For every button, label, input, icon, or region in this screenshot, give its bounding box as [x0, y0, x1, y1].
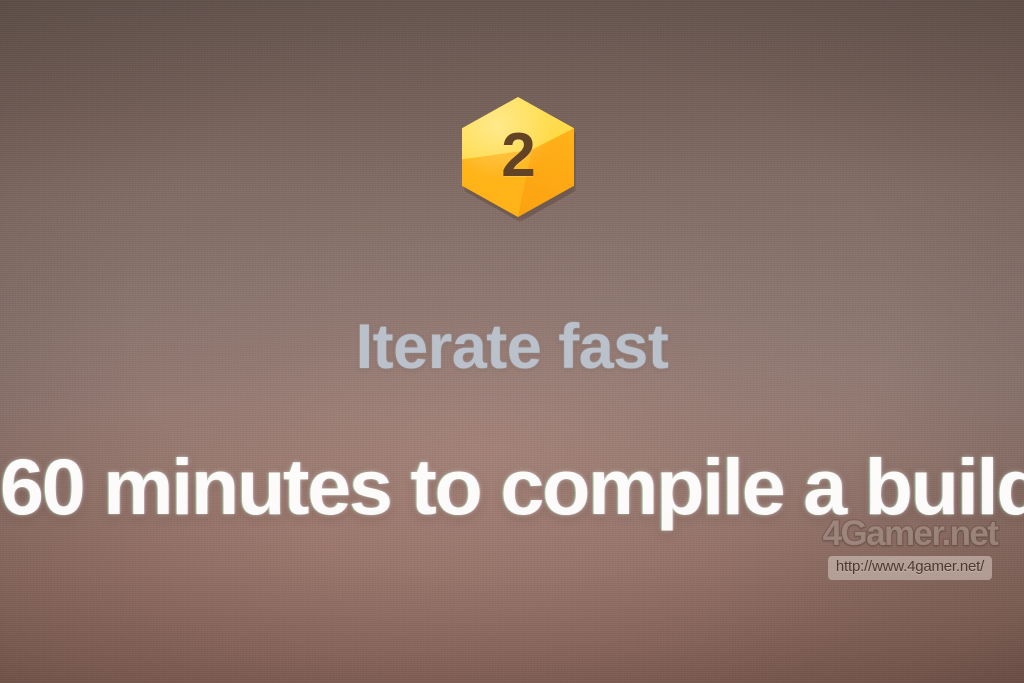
slide-photo: 2 Iterate fast 60 minutes to compile a b… [0, 0, 1024, 683]
slide-subtitle: Iterate fast [0, 316, 1024, 379]
step-badge: 2 [462, 97, 574, 217]
watermark-url: http://www.4gamer.net/ [828, 556, 992, 580]
watermark-logo: 4Gamer.net [806, 516, 1014, 552]
watermark: 4Gamer.net http://www.4gamer.net/ [806, 516, 1014, 580]
